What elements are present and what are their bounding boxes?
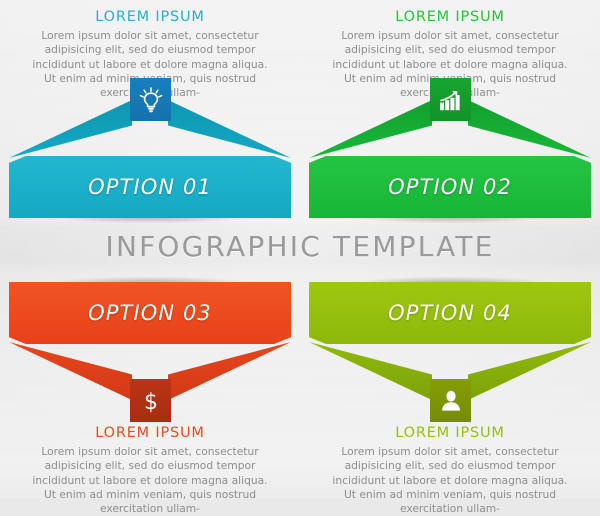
panel-body-bottom-left: Lorem ipsum dolor sit amet, consectetur …	[9, 445, 291, 516]
option-ribbon-top-left[interactable]: OPTION 01	[9, 78, 291, 218]
ribbon-wing-right	[168, 342, 291, 400]
ribbon-wing-left	[9, 342, 132, 400]
option-label: OPTION 01	[88, 175, 212, 199]
option-banner-top-left[interactable]: OPTION 01	[9, 156, 291, 218]
ribbon-wing-left	[9, 100, 132, 158]
page-title: INFOGRAPHIC TEMPLATE	[0, 230, 600, 263]
infographic-canvas: LOREM IPSUM Lorem ipsum dolor sit amet, …	[0, 0, 600, 499]
ribbon-wing-right	[468, 100, 591, 158]
option-ribbon-bottom-right[interactable]: OPTION 04	[309, 282, 591, 422]
ribbon-wing-right	[168, 100, 291, 158]
option-ribbon-bottom-left[interactable]: OPTION 03 $	[9, 282, 291, 422]
text-block-bottom-left: LOREM IPSUM Lorem ipsum dolor sit amet, …	[9, 424, 291, 516]
option-banner-bottom-left[interactable]: OPTION 03	[9, 282, 291, 344]
ribbon-wing-right	[468, 342, 591, 400]
text-block-bottom-right: LOREM IPSUM Lorem ipsum dolor sit amet, …	[309, 424, 591, 516]
panel-heading-top-left: LOREM IPSUM	[9, 8, 291, 26]
option-label: OPTION 02	[388, 175, 512, 199]
lightbulb-icon	[139, 87, 163, 113]
icon-box-bottom-left[interactable]: $	[130, 379, 171, 422]
panel-heading-bottom-right: LOREM IPSUM	[309, 424, 591, 442]
icon-box-top-left[interactable]	[130, 78, 171, 121]
growth-chart-icon	[438, 88, 463, 112]
option-label: OPTION 04	[388, 301, 512, 325]
option-banner-top-right[interactable]: OPTION 02	[309, 156, 591, 218]
option-banner-bottom-right[interactable]: OPTION 04	[309, 282, 591, 344]
panel-body-bottom-right: Lorem ipsum dolor sit amet, consectetur …	[309, 445, 591, 516]
person-icon	[440, 389, 462, 413]
ribbon-wing-left	[309, 342, 432, 400]
option-ribbon-top-right[interactable]: OPTION 02	[309, 78, 591, 218]
ribbon-wing-left	[309, 100, 432, 158]
panel-heading-bottom-left: LOREM IPSUM	[9, 424, 291, 442]
svg-text:$: $	[144, 390, 158, 414]
panel-heading-top-right: LOREM IPSUM	[309, 8, 591, 26]
icon-box-bottom-right[interactable]	[430, 379, 471, 422]
icon-box-top-right[interactable]	[430, 78, 471, 121]
dollar-icon: $	[142, 388, 160, 414]
option-label: OPTION 03	[88, 301, 212, 325]
